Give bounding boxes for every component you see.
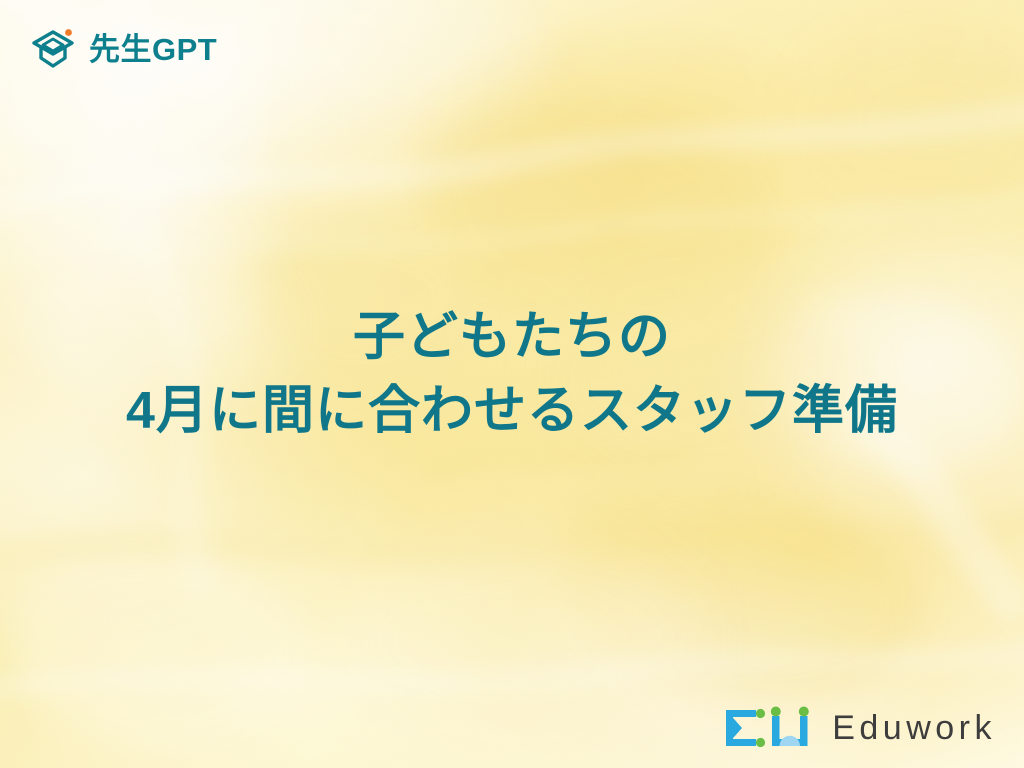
title-line-2: 4月に間に合わせるスタッフ準備 <box>0 374 1024 448</box>
slide-title: 子どもたちの 4月に間に合わせるスタッフ準備 <box>0 300 1024 448</box>
brand-logo: 先生GPT <box>30 26 217 72</box>
title-line-1: 子どもたちの <box>0 300 1024 374</box>
graduation-cap-icon <box>30 26 78 72</box>
eduwork-wordmark: Eduwork <box>832 711 996 745</box>
brand-wordmark: 先生GPT <box>89 34 217 65</box>
eduwork-logo-icon <box>724 702 816 754</box>
eduwork-logo: Eduwork <box>724 702 996 754</box>
slide-canvas: 先生GPT 子どもたちの 4月に間に合わせるスタッフ準備 Eduwork <box>0 0 1024 768</box>
